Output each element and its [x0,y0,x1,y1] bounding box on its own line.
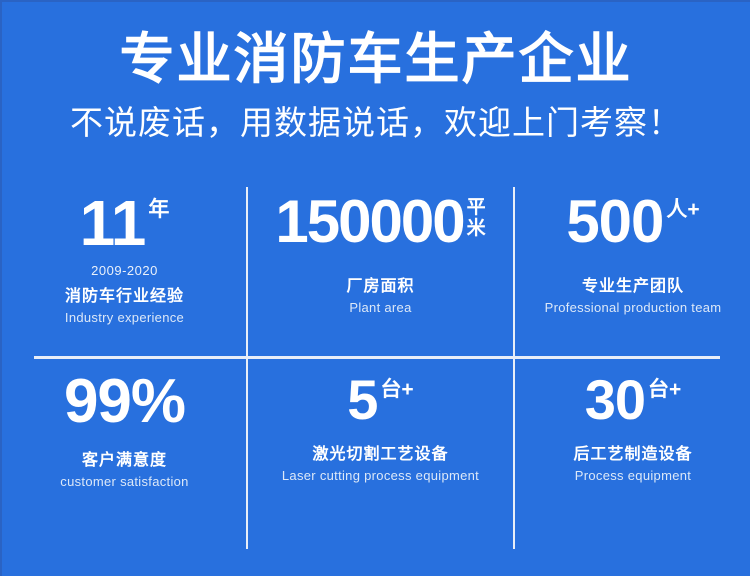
stats-grid: 11 年 2009-2020 消防车行业经验 Industry experien… [2,185,750,550]
stat-label-cn: 激光切割工艺设备 [312,440,448,464]
stat-label-cn: 厂房面积 [346,272,414,296]
stat-unit: 年 [148,199,169,221]
stat-unit: 台+ [380,379,413,401]
stat-value-row: 5 台+ [347,373,413,426]
page-title: 专业消防车生产企业 [2,28,750,91]
stat-value: 11 [80,193,146,254]
stat-value: 500 [566,193,663,250]
stat-cell-production-team: 500 人+ 专业生产团队 Professional production te… [514,185,750,357]
stat-unit: 平 米 [467,198,486,240]
stat-value: 99% [64,373,185,432]
page-subtitle: 不说废话，用数据说话，欢迎上门考察！ [2,103,750,143]
stat-label-en: Process equipment [575,468,691,483]
stat-label-cn: 专业生产团队 [582,272,684,296]
stat-value: 30 [585,373,645,426]
stat-value-row: 99% [64,373,185,432]
stat-value-row: 150000 平 米 [275,193,485,250]
stat-value-row: 500 人+ [566,193,699,250]
banner-header: 专业消防车生产企业 不说废话，用数据说话，欢迎上门考察！ [2,2,750,143]
stat-unit: 台+ [648,379,681,401]
stat-value-row: 30 台+ [585,373,682,426]
stat-cell-industry-experience: 11 年 2009-2020 消防车行业经验 Industry experien… [2,185,247,357]
stat-label-cn: 后工艺制造设备 [573,440,692,464]
stat-cell-laser-cutting-equipment: 5 台+ 激光切割工艺设备 Laser cutting process equi… [247,357,514,550]
stat-label-en: Industry experience [65,310,184,325]
stat-sublabel: 2009-2020 [91,263,158,278]
stat-value: 150000 [275,193,463,250]
stat-label-en: Plant area [349,300,411,315]
promo-banner: 专业消防车生产企业 不说废话，用数据说话，欢迎上门考察！ 11 年 2009-2… [0,0,750,576]
stat-label-en: customer satisfaction [60,474,188,489]
stat-label-en: Laser cutting process equipment [282,468,479,483]
stat-unit-line-1: 平 [467,198,486,219]
stat-label-cn: 消防车行业经验 [65,282,184,306]
stat-cell-plant-area: 150000 平 米 厂房面积 Plant area [247,185,514,357]
stat-value-row: 11 年 [80,193,170,254]
stat-cell-customer-satisfaction: 99% 客户满意度 customer satisfaction [2,357,247,550]
stat-cell-process-equipment: 30 台+ 后工艺制造设备 Process equipment [514,357,750,550]
stat-unit: 人+ [666,199,699,221]
stat-label-en: Professional production team [545,300,722,315]
stat-label-cn: 客户满意度 [82,446,167,470]
stat-unit-line-2: 米 [467,219,486,240]
stat-value: 5 [347,373,377,426]
